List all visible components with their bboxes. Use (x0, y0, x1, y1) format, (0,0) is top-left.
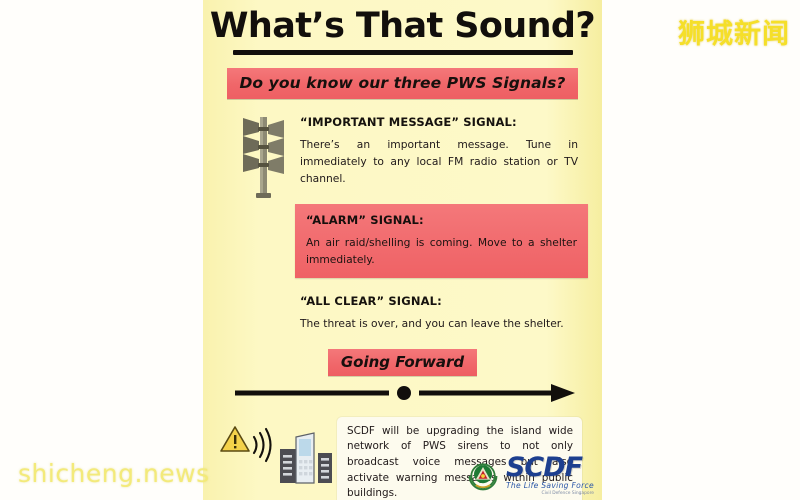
poster-header: What’s That Sound? (203, 8, 602, 55)
going-forward-badge: Going Forward (328, 349, 477, 376)
public-buildings-icon (280, 433, 332, 483)
page-title: What’s That Sound? (203, 8, 602, 45)
subtitle-banner-row: Do you know our three PWS Signals? (203, 68, 602, 99)
screen-background: What’s That Sound? Do you know our three… (0, 0, 800, 500)
signal-heading: “ALL CLEAR” SIGNAL: (300, 294, 578, 308)
signal-heading: “IMPORTANT MESSAGE” SIGNAL: (300, 115, 578, 129)
signal-block-important-message: “IMPORTANT MESSAGE” SIGNAL: There’s an i… (300, 115, 578, 188)
signal-block-alarm: “ALARM” SIGNAL: An air raid/shelling is … (295, 204, 588, 279)
subtitle-banner: Do you know our three PWS Signals? (227, 68, 577, 99)
warning-triangle-icon (221, 427, 249, 451)
siren-tower-icon (235, 115, 291, 199)
scdf-crest-icon (465, 458, 501, 494)
scdf-wordmark: SCDF (506, 456, 594, 480)
signal-body: An air raid/shelling is coming. Move to … (306, 234, 577, 269)
scdf-tagline: The Life Saving Force (506, 481, 594, 490)
signal-block-all-clear: “ALL CLEAR” SIGNAL: The threat is over, … (300, 294, 578, 332)
watermark-english: shicheng.news (18, 459, 210, 488)
signal-body: There’s an important message. Tune in im… (300, 136, 578, 188)
signal-body: The threat is over, and you can leave th… (300, 315, 578, 332)
going-forward-section: Going Forward (203, 349, 602, 403)
timeline-arrow-row (203, 383, 602, 403)
timeline-arrow-icon (203, 383, 602, 403)
signals-list: “IMPORTANT MESSAGE” SIGNAL: There’s an i… (203, 115, 602, 333)
signal-heading: “ALARM” SIGNAL: (306, 213, 577, 227)
title-underline-rule (233, 50, 573, 55)
bottom-icon-group (217, 417, 337, 492)
scdf-subtext: Civil Defence Singapore (506, 491, 594, 496)
scdf-logo: SCDF The Life Saving Force Civil Defence… (465, 456, 594, 496)
sound-waves-icon (254, 429, 271, 461)
watermark-chinese: 狮城新闻 (678, 12, 790, 51)
pws-signals-poster: What’s That Sound? Do you know our three… (203, 0, 602, 500)
